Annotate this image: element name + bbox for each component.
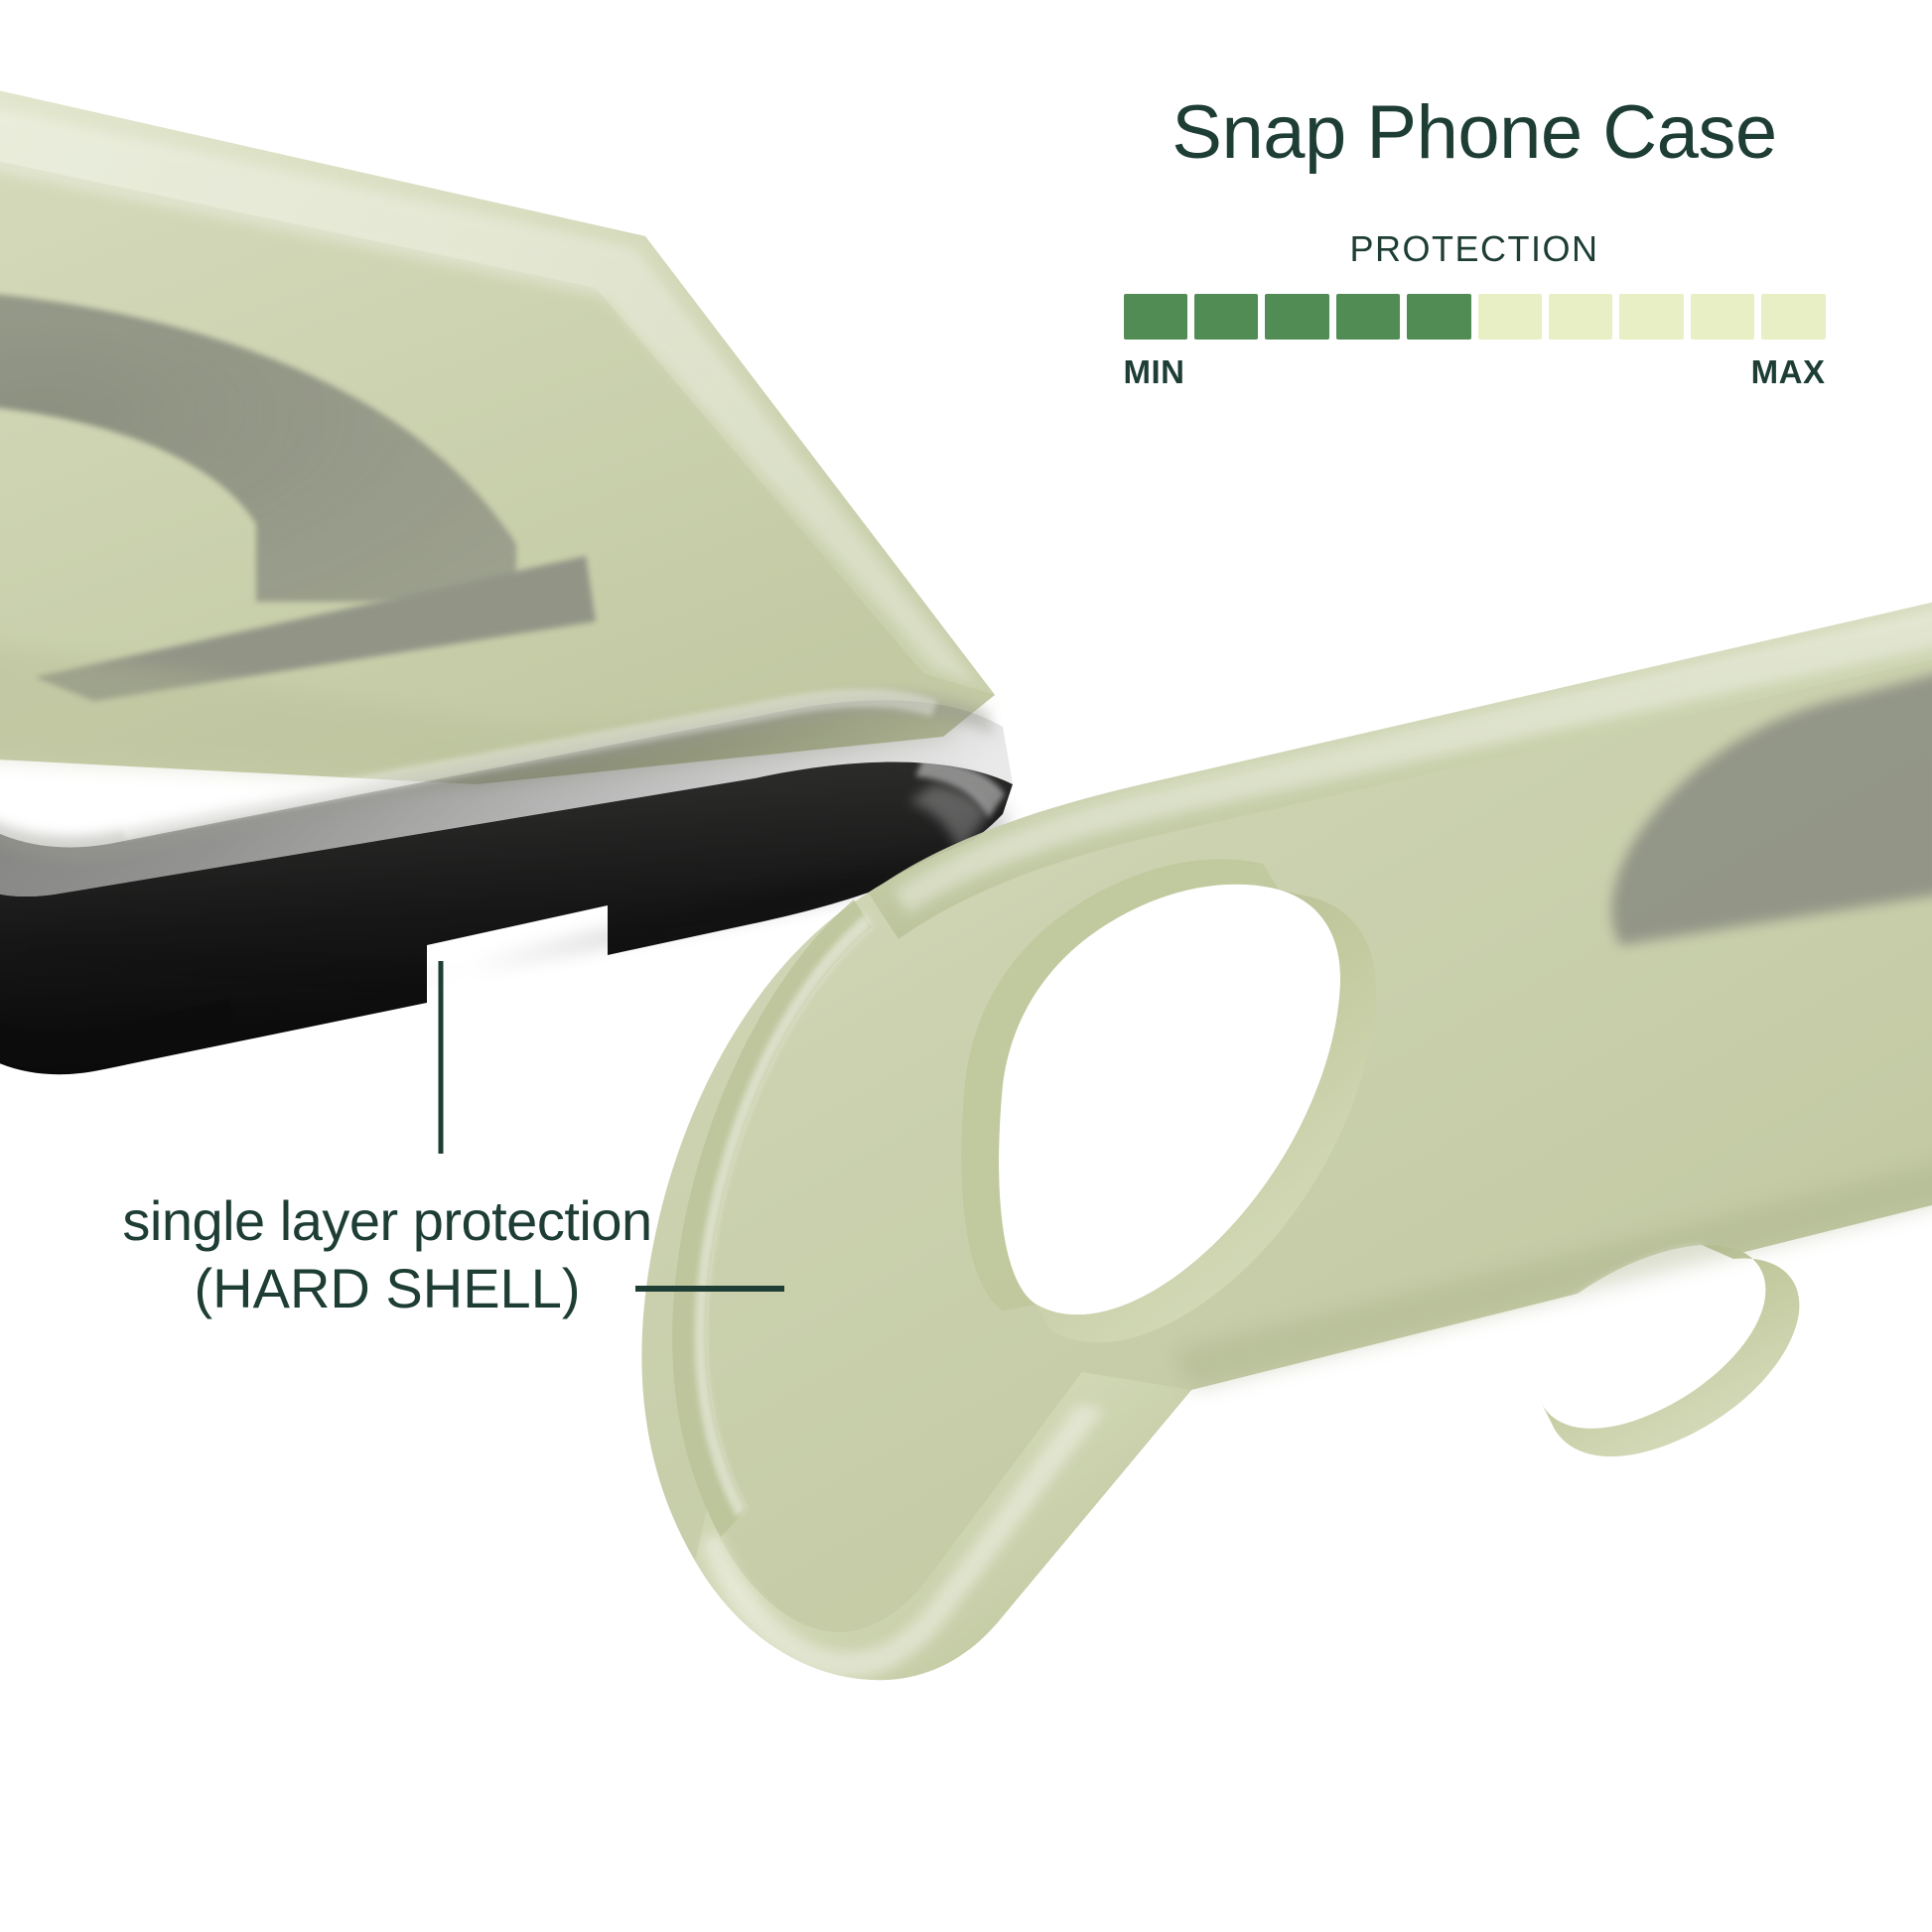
meter-segment-2	[1194, 294, 1258, 340]
meter-segment-9	[1691, 294, 1754, 340]
meter-segment-6	[1478, 294, 1542, 340]
meter-segment-8	[1619, 294, 1683, 340]
meter-segment-4	[1336, 294, 1400, 340]
page-title: Snap Phone Case	[1072, 95, 1876, 171]
meter-segment-3	[1265, 294, 1328, 340]
meter-segment-10	[1761, 294, 1825, 340]
callout-line-primary: single layer protection	[40, 1187, 735, 1255]
meter-segment-5	[1407, 294, 1470, 340]
protection-meter-label: PROTECTION	[1072, 228, 1876, 270]
meter-segment-7	[1549, 294, 1612, 340]
protection-meter-scale: MIN MAX	[1124, 353, 1826, 391]
callout-annotation: single layer protection (HARD SHELL)	[40, 1187, 735, 1323]
product-feature-graphic: Snap Phone Case PROTECTION MIN MAX singl…	[0, 0, 1932, 1932]
info-panel: Snap Phone Case PROTECTION MIN MAX	[1072, 95, 1876, 391]
meter-max-label: MAX	[1751, 353, 1826, 391]
protection-meter	[1124, 294, 1826, 340]
meter-segment-1	[1124, 294, 1187, 340]
case-upper-left	[0, 77, 995, 784]
meter-min-label: MIN	[1124, 353, 1185, 391]
callout-line-secondary: (HARD SHELL)	[40, 1255, 735, 1322]
